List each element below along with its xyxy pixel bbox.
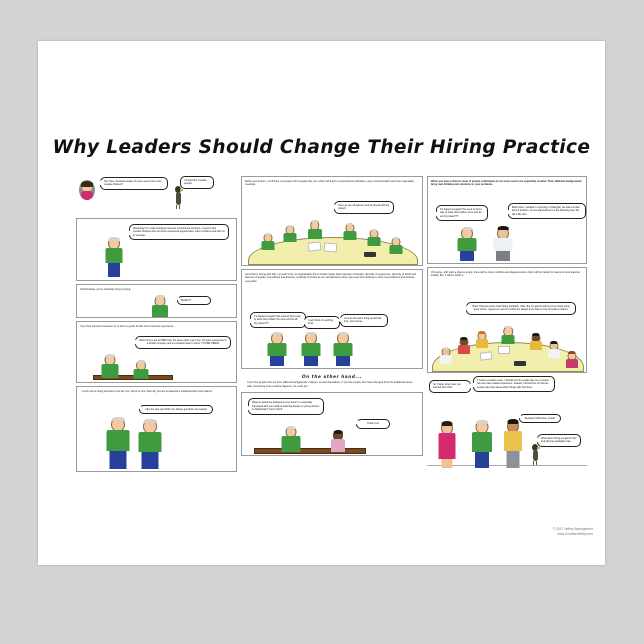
bubble-text: I should hire creative people!	[184, 179, 207, 185]
column-one: Hey there, business leader. Do you need …	[76, 176, 237, 475]
bubble-text: Excellent! Well done, Frank!	[525, 417, 555, 420]
bubble-text: I like the way you think! You always get…	[145, 408, 207, 411]
comic-panel: Before you know it, you'll have a compan…	[241, 176, 423, 266]
comic-panel: Of course, with such a diverse group, th…	[427, 267, 587, 373]
comic-panel: ...you'll end up hiring someone a lot li…	[76, 386, 237, 472]
crow-icon	[174, 186, 182, 210]
laptop	[364, 252, 376, 257]
bubble-panel4: I like the way you think! You always get…	[139, 405, 213, 414]
bubble-text: Hey there, business leader. Do you need …	[104, 180, 162, 186]
comic-panel: Unfortunately, you're probably doing it …	[76, 284, 237, 318]
figure-seated	[282, 225, 298, 241]
bubble-text: Wow! That was some hard hitting feedback…	[472, 305, 569, 311]
figure-seated-leader	[500, 326, 516, 342]
figure-seated-diverse	[474, 331, 489, 346]
poster-canvas: Why Leaders Should Change Their Hiring P…	[38, 41, 605, 565]
figure-interviewer	[278, 426, 304, 452]
bubble-panel3: Wow! You've got an MBA from the same pla…	[135, 336, 231, 349]
figure-employee	[298, 332, 324, 366]
figure-seated-diverse	[438, 347, 453, 362]
section-heading: On the other hand...	[241, 374, 423, 379]
panel-caption: Before you know it, you'll have a compan…	[242, 177, 422, 187]
comic-panel: Absolutely! It's a fast changing busines…	[76, 218, 237, 281]
bubble-text: Really?!?	[181, 299, 191, 302]
bubble-text: Back when I worked in a printing in Shan…	[512, 206, 580, 216]
figure-employee	[330, 332, 356, 366]
bubble-text: I can't think of anything, boss.	[308, 319, 334, 325]
bubble-text: So, Frank, what have you learned from th…	[433, 383, 461, 389]
bubble-candidate: Thank you!	[356, 419, 390, 428]
column-three: When you have a diverse team of people, …	[427, 176, 587, 472]
figure-seated	[366, 229, 382, 245]
figure-seated	[260, 233, 276, 249]
bubble-boss: It's happened again! We need to find a w…	[250, 312, 306, 328]
figure-seated-diverse	[456, 337, 471, 352]
crow-icon	[531, 444, 540, 466]
figure-seated	[342, 223, 358, 239]
bubble-leader-feedback: Wow! That was some hard hitting feedback…	[466, 302, 576, 315]
desk	[254, 448, 366, 454]
bubble-text: Once we are all agreed, we'll go ahead w…	[338, 204, 389, 210]
paper	[308, 241, 322, 251]
bubble-employee-1: I can't think of anything, boss.	[304, 316, 340, 329]
panel-caption: ...you'll end up hiring someone a lot li…	[77, 387, 236, 393]
figure-interviewer	[99, 354, 121, 378]
page-title: Why Leaders Should Change Their Hiring P…	[38, 137, 605, 158]
figure-candidate	[131, 360, 151, 378]
figure-colleague	[490, 227, 516, 261]
bubble-text: It's happened again! We need to find a w…	[440, 208, 482, 218]
bubble-woman-intro: Hey there, business leader. Do you need …	[100, 177, 168, 190]
avatar-woman	[79, 180, 95, 200]
bubble-boss: It's happened again! We need to find a w…	[436, 205, 488, 221]
figure-man-right	[135, 419, 165, 469]
bubble-panel2: Really?!?	[177, 296, 211, 305]
panel-caption: Of course, with such a diverse group, th…	[428, 268, 586, 278]
panel-caption: When you have a diverse team of people, …	[428, 177, 586, 187]
column-two: Before you know it, you'll have a compan…	[241, 176, 423, 459]
bubble-text: Absolutely! It's a fast changing busines…	[133, 227, 225, 237]
bubble-frank-answer: If I want a creative team, I should not …	[473, 376, 555, 392]
bubble-text: What about hiring penguins? No truly div…	[541, 437, 576, 443]
bubble-interviewer: What an awesome background you have! I'm…	[248, 398, 324, 414]
figure-seated	[306, 220, 323, 237]
figure-man-green	[149, 295, 171, 317]
bubble-text: Let's do the same thing we did last time…	[344, 317, 381, 323]
laptop	[514, 361, 526, 366]
bubble-text: What an awesome background you have! I'm…	[252, 401, 319, 411]
figure-woman-pink	[435, 422, 459, 468]
panel-caption: And what is wrong with that, you ask? A …	[242, 270, 422, 284]
figure-man-left	[103, 417, 133, 469]
figure-colleague-yellow	[501, 420, 525, 468]
credit-line-2: www.CreativeJeffrey.com	[553, 532, 593, 537]
figure-seated-diverse	[564, 351, 579, 366]
comic-panel: What an awesome background you have! I'm…	[241, 392, 423, 456]
figure-boss	[264, 332, 290, 366]
bubble-text: If I want a creative team, I should not …	[477, 379, 549, 389]
figure-man-green	[103, 237, 125, 277]
bubble-bird-intro: I should hire creative people!	[180, 176, 214, 189]
figure-seated	[388, 237, 404, 253]
bubble-panel1: Absolutely! It's a fast changing busines…	[129, 224, 229, 240]
bubble-bird-penguin: What about hiring penguins? No truly div…	[537, 434, 581, 447]
comic-panel: If you hire someone because he or she is…	[76, 321, 237, 383]
bubble-colleague: Back when I worked in a printing in Shan…	[508, 203, 586, 219]
final-scene: So, Frank, what have you learned from th…	[427, 376, 587, 472]
bubble-text: It's happened again! We need to find a w…	[254, 315, 301, 325]
section-caption: If you hire people who are from differen…	[241, 381, 423, 392]
bubble-praise: Excellent! Well done, Frank!	[519, 414, 561, 423]
figure-boss	[454, 227, 480, 261]
bubble-boardroom: Once we are all agreed, we'll go ahead w…	[334, 201, 394, 214]
figure-seated-diverse	[546, 341, 561, 356]
paper	[480, 351, 493, 361]
figure-frank	[469, 420, 495, 468]
panel-caption: If you hire someone because he or she is…	[77, 322, 236, 328]
bubble-text: Thank you!	[367, 422, 379, 425]
comic-panel: And what is wrong with that, you ask? A …	[241, 269, 423, 369]
bubble-woman-question: So, Frank, what have you learned from th…	[429, 380, 471, 393]
figure-candidate-woman	[328, 430, 348, 452]
comic-panel: When you have a diverse team of people, …	[427, 176, 587, 264]
copyright-credit: © 2017 Jeffrey Baumgartner www.CreativeJ…	[553, 527, 593, 537]
figure-seated-diverse	[528, 333, 543, 348]
intro-strip: Hey there, business leader. Do you need …	[76, 176, 237, 218]
paper	[324, 242, 338, 252]
paper	[498, 346, 510, 354]
bubble-text: Wow! You've got an MBA from the same pla…	[139, 339, 226, 345]
panel-caption: Unfortunately, you're probably doing it …	[77, 285, 236, 291]
bubble-employee-2: Let's do the same thing we did last time…	[340, 314, 388, 327]
